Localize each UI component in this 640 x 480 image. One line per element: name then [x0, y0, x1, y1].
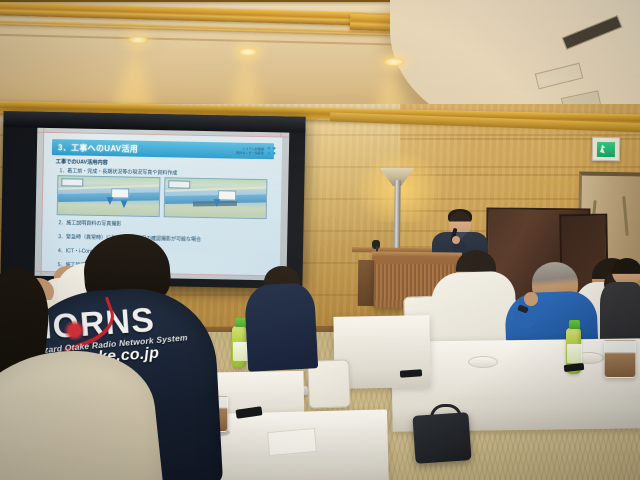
black-bag [412, 412, 471, 464]
audience-hand [524, 292, 538, 306]
running-man-exit-icon [597, 141, 615, 156]
slide-list-item-2: 2．施工説明資料の写真撮影 [58, 219, 121, 227]
slide-logo-text-block: システム管理課 受託センター情報係 [236, 146, 264, 155]
slide-image-tag [61, 178, 83, 186]
handout-papers [267, 428, 317, 456]
slide-logo-line-2: 受託センター情報係 [236, 150, 264, 155]
downlight-icon [384, 58, 404, 66]
audience-body [244, 282, 318, 372]
slide-aerial-image-after [164, 177, 268, 219]
saucer [468, 356, 498, 368]
slide-logo: システム管理課 受託センター情報係 [214, 143, 276, 157]
presenter-hand [452, 236, 460, 244]
downlight-icon [128, 36, 148, 44]
map-marker-icon [120, 200, 127, 208]
slide-aerial-image-before [57, 175, 161, 217]
exit-sign [592, 137, 620, 161]
slide-image-tag [168, 180, 190, 188]
slide-subtitle: 工事でのUAV活用内容 [56, 158, 108, 166]
slide-logo-mark-icon [267, 146, 276, 155]
conference-room-photo: 3．工事へのUAV活用 システム管理課 受託センター情報係 工事でのUAV活用内… [0, 0, 640, 480]
slide-title: 3．工事へのUAV活用 [52, 142, 138, 155]
iced-coffee-glass[interactable] [604, 340, 636, 378]
downlight-icon [238, 48, 258, 56]
green-tea-bottle[interactable] [232, 326, 246, 368]
slide-image-pair [57, 175, 268, 219]
